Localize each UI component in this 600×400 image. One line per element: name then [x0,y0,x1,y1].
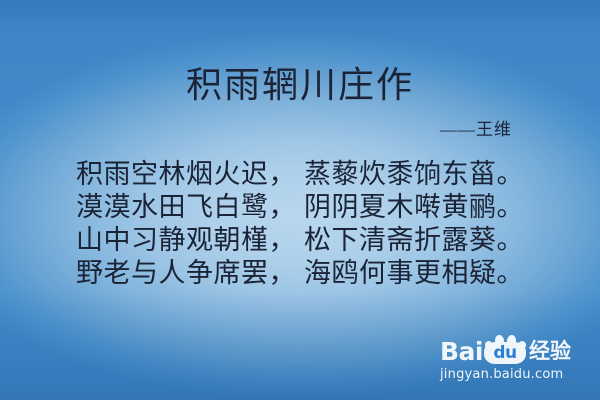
poem-line: 野老与人争席罢，海鸥何事更相疑。 [0,257,600,290]
poem-line-first-half: 山中习静观朝槿， [76,224,296,257]
poem-line-first-half: 漠漠水田飞白鹭， [76,191,296,224]
poem-line-second-half: 蒸藜炊黍饷东菑。 [304,158,524,191]
baidu-logo-bai-text: Bai [440,339,483,364]
poem-line-second-half: 松下清斋折露葵。 [304,224,524,257]
poem-line-first-half: 野老与人争席罢， [76,257,296,290]
poem-author: ——王维 [440,118,512,142]
poem-line-first-half: 积雨空林烟火迟， [76,158,296,191]
baidu-logo-du-text: du [484,342,526,364]
page-title: 积雨辋川庄作 [0,62,600,108]
baidu-logo-jingyan-text: 经验 [529,339,571,364]
poem-line-second-half: 海鸥何事更相疑。 [304,257,524,290]
poem-line: 积雨空林烟火迟，蒸藜炊黍饷东菑。 [0,158,600,191]
poem-slide: 积雨辋川庄作 ——王维 积雨空林烟火迟，蒸藜炊黍饷东菑。 漠漠水田飞白鹭，阴阴夏… [0,0,600,400]
poem-body: 积雨空林烟火迟，蒸藜炊黍饷东菑。 漠漠水田飞白鹭，阴阴夏木啭黄鹂。 山中习静观朝… [0,158,600,290]
baidu-jingyan-watermark: Bai du 经验 jingyan.baidu.com [440,334,590,382]
baidu-paw-icon: du [484,334,526,364]
poem-line: 漠漠水田飞白鹭，阴阴夏木啭黄鹂。 [0,191,600,224]
baidu-logo: Bai du 经验 [440,334,590,364]
poem-line-second-half: 阴阴夏木啭黄鹂。 [304,191,524,224]
watermark-url: jingyan.baidu.com [440,367,590,382]
poem-line: 山中习静观朝槿，松下清斋折露葵。 [0,224,600,257]
